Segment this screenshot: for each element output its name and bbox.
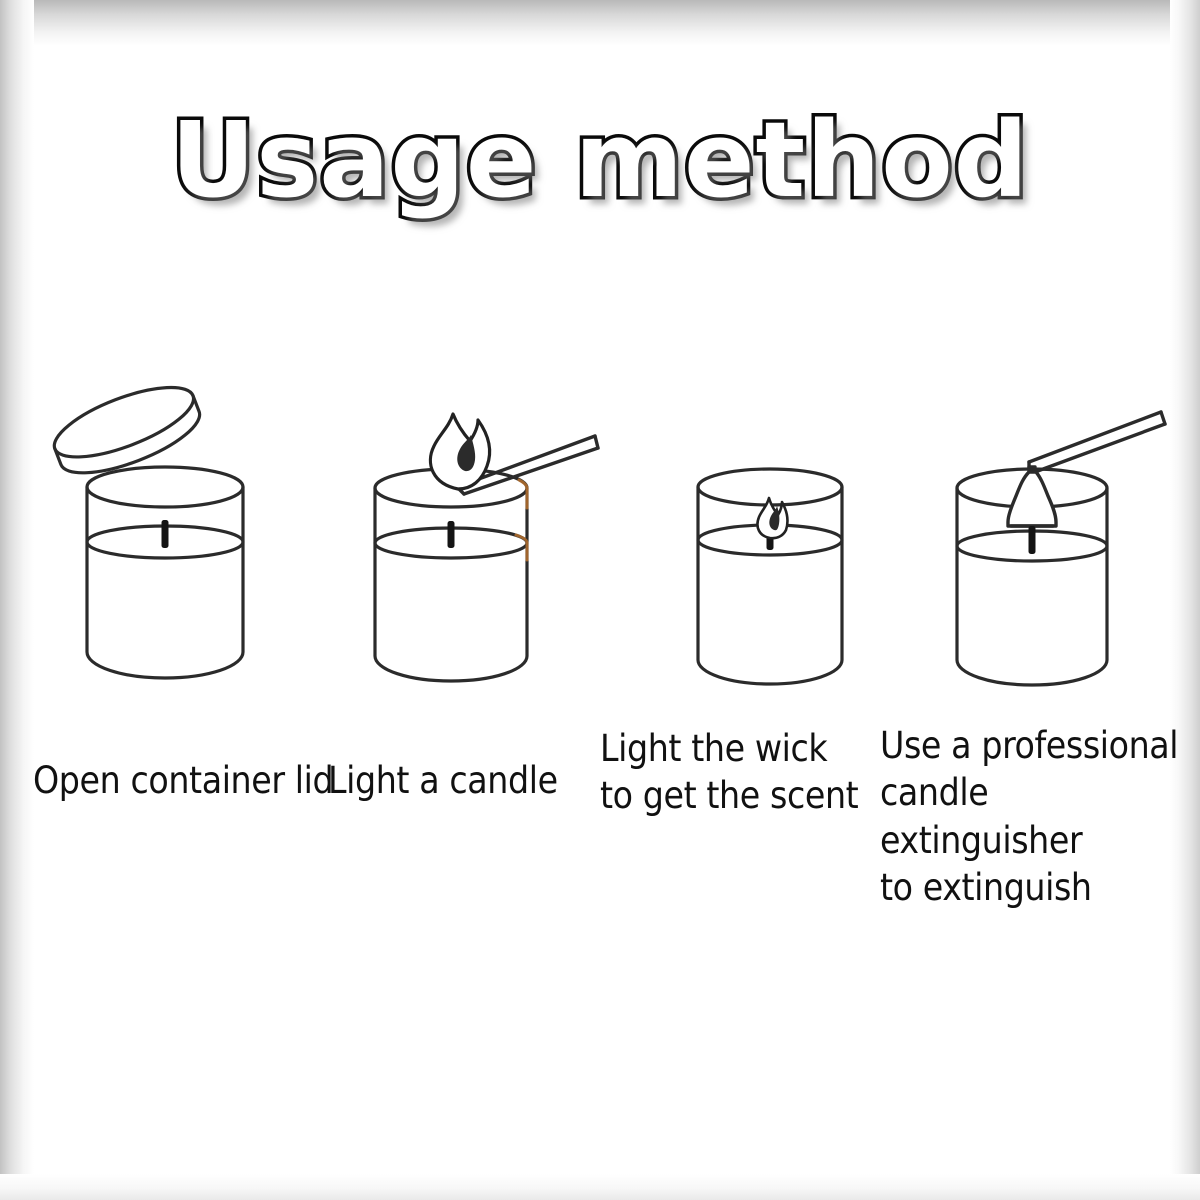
snuffer-handle	[1029, 412, 1165, 472]
step-3-caption: Light the wick to get the scent	[600, 725, 858, 820]
step-4-illustration	[925, 398, 1195, 710]
snuffer-bell	[1008, 472, 1056, 526]
candle-wick	[448, 521, 455, 548]
usage-method-infographic: Usage method	[0, 0, 1200, 1200]
step-3-illustration	[670, 460, 920, 710]
page-title-container: Usage method	[0, 108, 1200, 212]
step-1-illustration	[20, 370, 310, 700]
candle-jar	[87, 467, 243, 678]
candle-jar	[375, 469, 527, 681]
match-flame	[430, 414, 489, 489]
step-4-caption: Use a professional candle extinguisher t…	[880, 722, 1200, 911]
step-1-caption: Open container lid	[33, 757, 333, 804]
step-2-caption: Light a candle	[328, 757, 558, 804]
page-title: Usage method	[171, 108, 1029, 212]
step-2-illustration	[345, 388, 635, 700]
edge-vignette-top	[0, 0, 1200, 46]
candle-wick	[162, 520, 169, 548]
edge-vignette-bottom	[0, 1174, 1200, 1200]
candle-wick	[1029, 526, 1036, 554]
